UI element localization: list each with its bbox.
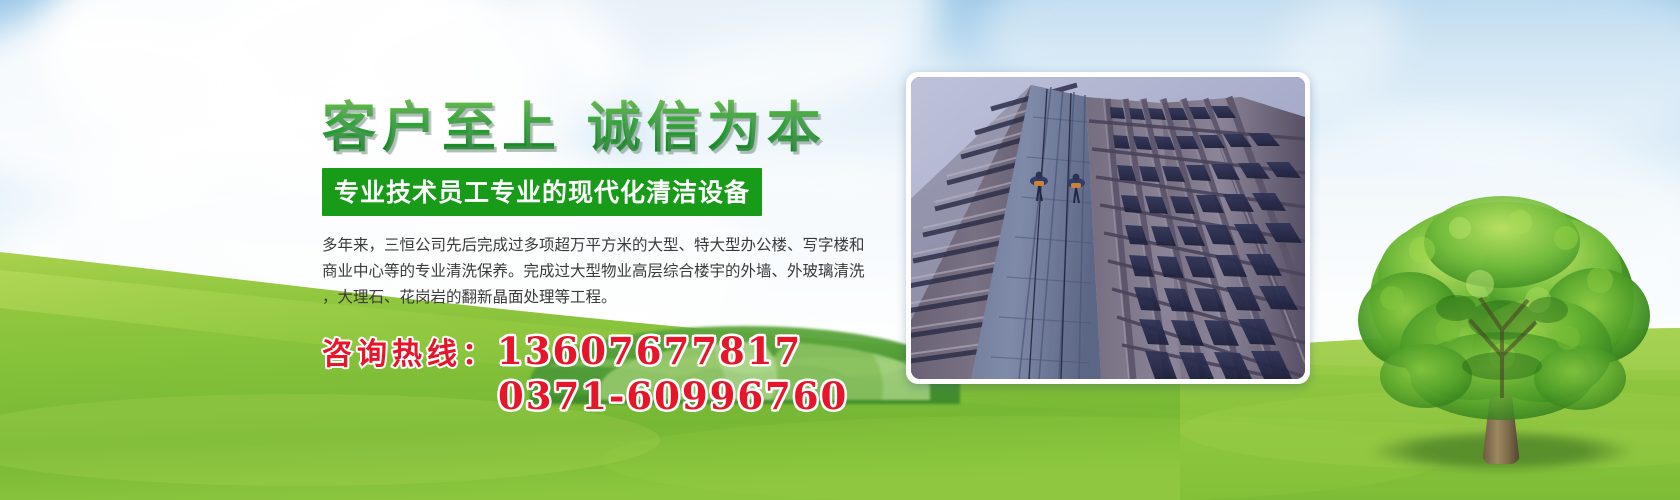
hotline-mobile-number[interactable]: 13607677817 — [497, 329, 802, 373]
tree-illustration — [1352, 180, 1652, 470]
building-photo — [911, 77, 1305, 379]
tree-canopy — [1352, 180, 1652, 470]
description-line-1: 多年来，三恒公司先后完成过多项超万平方米的大型、特大型办公楼、写字楼和 — [322, 232, 882, 258]
hotline-secondary-row: 0371-60996760 — [322, 377, 902, 416]
promotional-banner: 客户至上 诚信为本 客户至上 诚信为本 专业技术员工专业的现代化清洁设备 多年来… — [0, 0, 1680, 500]
banner-headline: 客户至上 诚信为本 — [322, 96, 902, 158]
building-photo-frame — [906, 72, 1310, 384]
description-line-3: ，大理石、花岗岩的翻新晶面处理等工程。 — [322, 284, 882, 310]
banner-subtitle: 专业技术员工专业的现代化清洁设备 — [334, 178, 750, 207]
hotline-label: 咨询热线： — [322, 337, 497, 372]
banner-description: 多年来，三恒公司先后完成过多项超万平方米的大型、特大型办公楼、写字楼和 商业中心… — [322, 232, 882, 310]
hotline-primary-row: 咨询热线：13607677817 — [322, 332, 902, 371]
banner-subtitle-bar: 专业技术员工专业的现代化清洁设备 — [322, 168, 762, 216]
description-line-2: 商业中心等的专业清洗保养。完成过大型物业高层综合楼宇的外墙、外玻璃清洗 — [322, 258, 882, 284]
banner-copy: 客户至上 诚信为本 客户至上 诚信为本 专业技术员工专业的现代化清洁设备 多年来… — [322, 96, 902, 416]
hotline-block: 咨询热线：13607677817 0371-60996760 — [322, 332, 902, 416]
headline-wrapper: 客户至上 诚信为本 客户至上 诚信为本 — [322, 96, 902, 158]
hotline-landline-number[interactable]: 0371-60996760 — [498, 374, 848, 418]
